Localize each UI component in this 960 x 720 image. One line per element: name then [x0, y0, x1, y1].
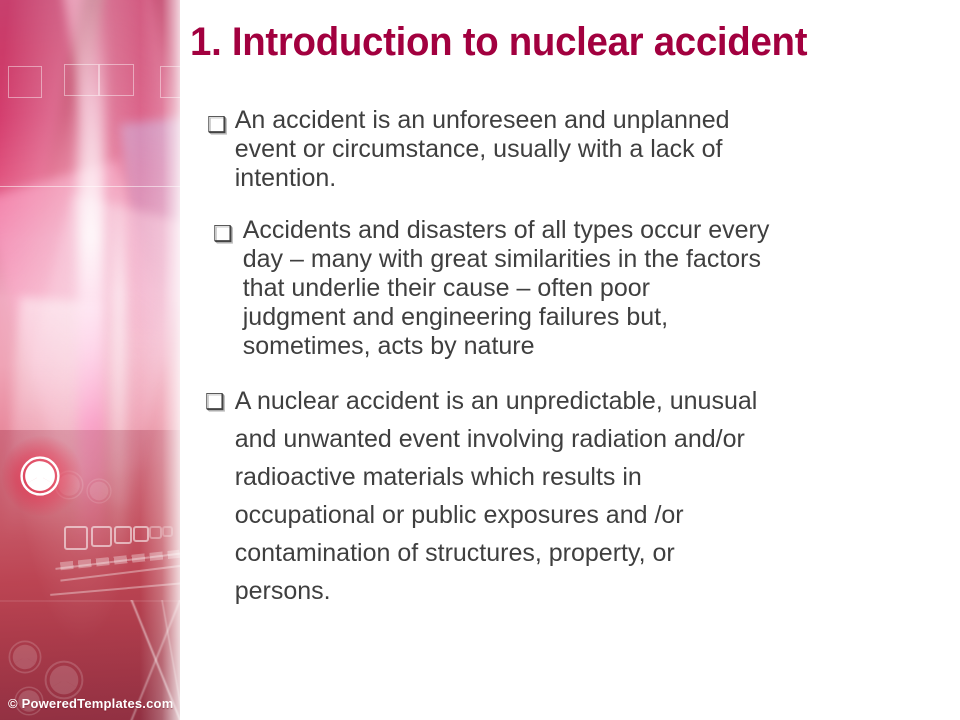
- bullet-item: ❑ A nuclear accident is an unpredictable…: [205, 382, 940, 610]
- sidebar-edge-fade: [140, 0, 180, 720]
- bullet-square-icon: ❑: [205, 391, 225, 413]
- slide-title: 1. Introduction to nuclear accident: [190, 20, 920, 65]
- bullet-item: ❑ Accidents and disasters of all types o…: [213, 216, 940, 361]
- bullet-text: A nuclear accident is an unpredictable, …: [235, 382, 940, 610]
- bullet-square-icon: ❑: [207, 114, 227, 136]
- bullet-text: Accidents and disasters of all types occ…: [243, 216, 940, 361]
- slide-canvas: © PoweredTemplates.com 1. Introduction t…: [0, 0, 960, 720]
- decorative-sidebar-image: © PoweredTemplates.com: [0, 0, 180, 720]
- bullet-item: ❑ An accident is an unforeseen and unpla…: [207, 106, 940, 193]
- powered-templates-watermark: © PoweredTemplates.com: [8, 696, 173, 711]
- bullet-text: An accident is an unforeseen and unplann…: [235, 106, 940, 193]
- slide-body-content: ❑ An accident is an unforeseen and unpla…: [196, 106, 940, 610]
- bullet-square-icon: ❑: [213, 223, 233, 245]
